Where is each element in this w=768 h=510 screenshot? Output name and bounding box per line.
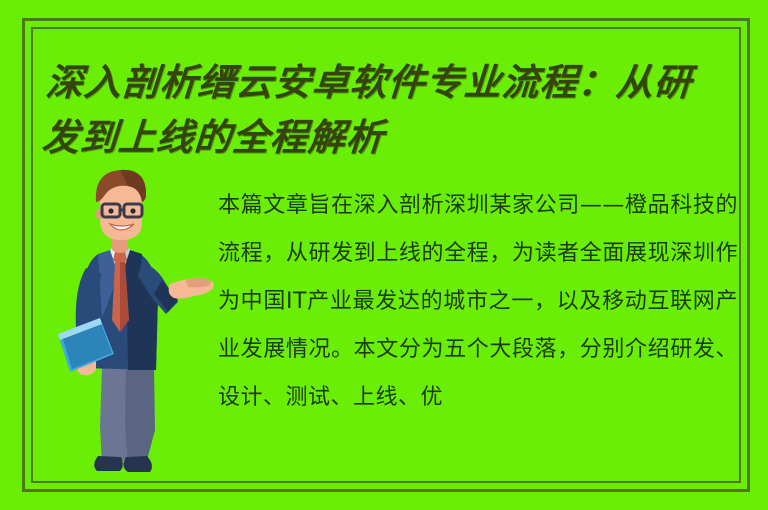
shoe-right <box>123 456 151 472</box>
eye-left <box>108 208 113 213</box>
hand-right-fingers-shadow <box>186 278 211 287</box>
poster-title: 深入剖析缙云安卓软件专业流程：从研 发到上线的全程解析 <box>40 55 748 165</box>
poster-canvas: 深入剖析缙云安卓软件专业流程：从研 发到上线的全程解析 <box>0 0 768 510</box>
leg-right <box>125 368 155 464</box>
businessman-illustration <box>58 168 233 488</box>
businessman-svg <box>58 168 233 488</box>
poster-body-text: 本篇文章旨在深入剖析深圳某家公司——橙品科技的流程，从研发到上线的全程，为读者全… <box>218 182 738 477</box>
leg-left <box>100 368 128 464</box>
eye-right <box>130 208 135 213</box>
shoe-left <box>94 456 123 471</box>
